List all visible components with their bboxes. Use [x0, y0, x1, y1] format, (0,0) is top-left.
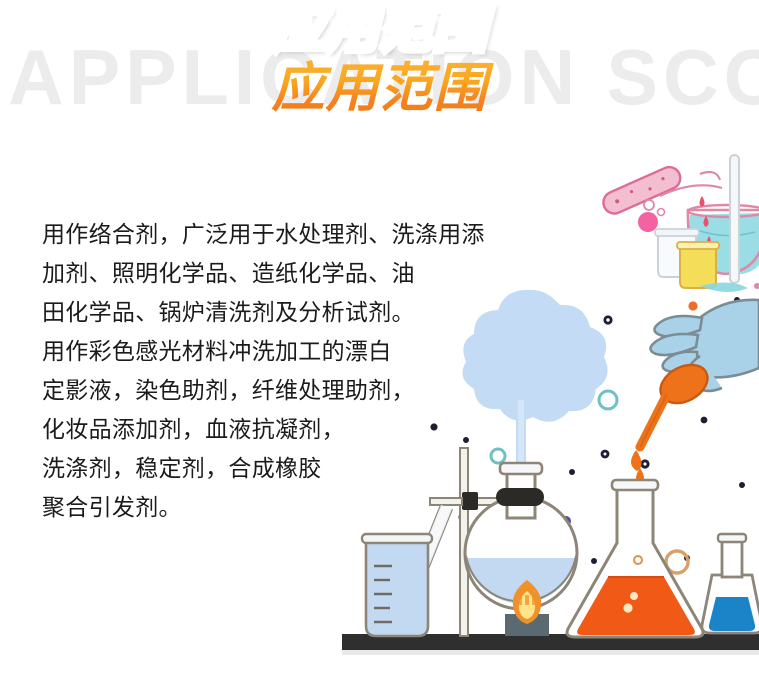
reagent-bottle-icon: [699, 534, 759, 633]
header: APPLICATION SCOPE 应用范围 应用范围: [0, 0, 759, 150]
body-line: 聚合引发剂。: [42, 489, 532, 528]
body-line: 用作络合剂，广泛用于水处理剂、洗涤用添: [42, 216, 532, 255]
gloved-hand-pipette-icon: [631, 300, 759, 485]
body-line: 化妆品添加剂，血液抗凝剂，: [42, 411, 532, 450]
page-title: 应用范围: [266, 60, 494, 118]
bunsen-burner-flame-icon: [505, 580, 549, 636]
body-copy: 用作络合剂，广泛用于水处理剂、洗涤用添 加剂、照明化学品、造纸化学品、油 田化学…: [42, 216, 532, 528]
lab-bench-icon: [342, 634, 759, 655]
body-line: 田化学品、锅炉清洗剂及分析试剂。: [42, 294, 532, 333]
body-line: 加剂、照明化学品、造纸化学品、油: [42, 255, 532, 294]
page-title-wrap: 应用范围: [0, 60, 759, 118]
body-line: 洗涤剂，稳定剂，合成橡胶: [42, 450, 532, 489]
body-line: 用作彩色感光材料冲洗加工的漂白: [42, 333, 532, 372]
watercolor-lab-sketch-icon: [600, 155, 759, 292]
erlenmeyer-flask-icon: [567, 452, 703, 637]
body-line: 定影液，染色助剂，纤维处理助剂，: [42, 372, 532, 411]
graduated-beaker-icon: [362, 534, 432, 636]
application-scope-banner: APPLICATION SCOPE 应用范围 应用范围: [0, 0, 759, 674]
